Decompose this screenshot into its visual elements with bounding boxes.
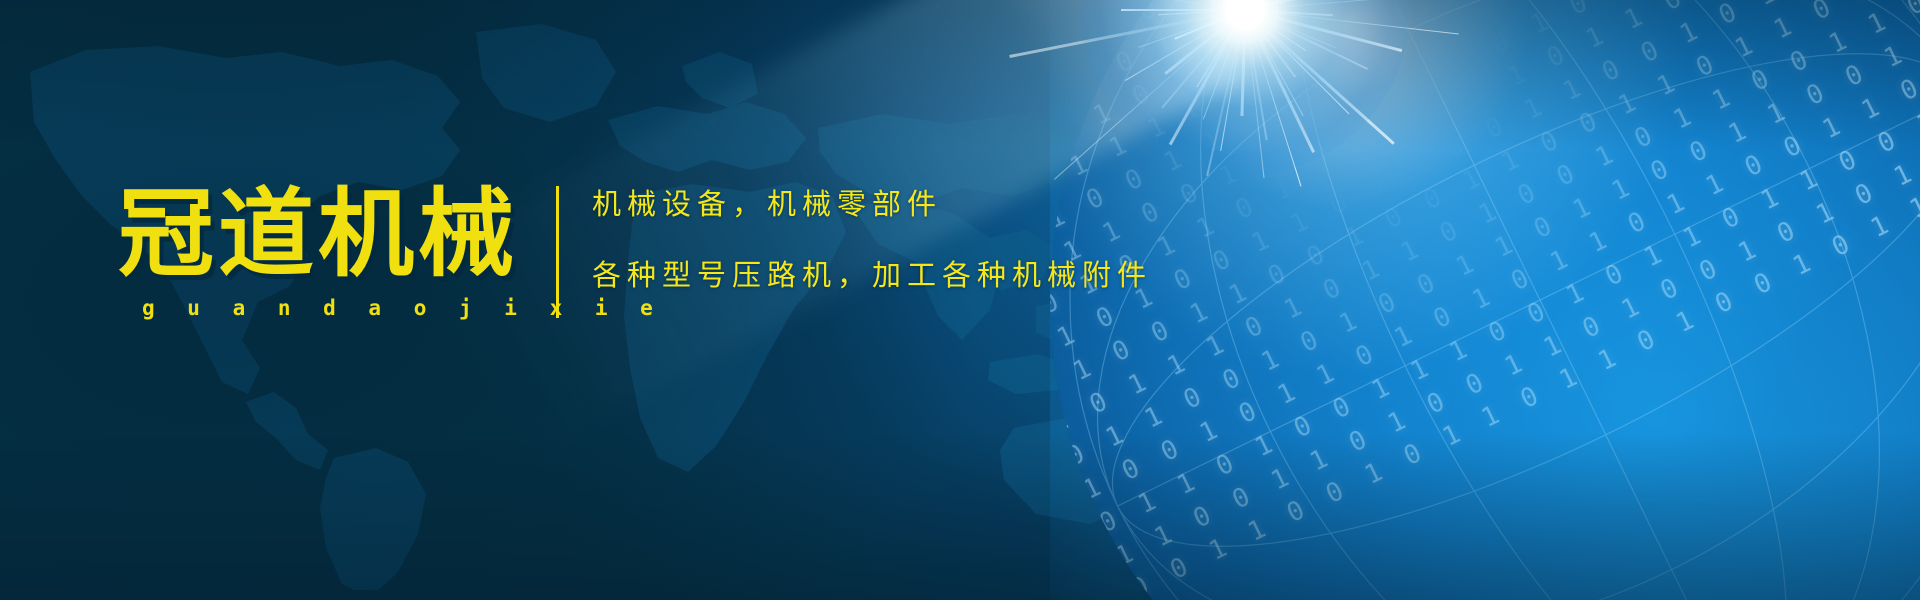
banner-content: 冠道机械 g u a n d a o j i x i e 机械设备，机械零部件 …: [0, 0, 1920, 600]
company-name-cn: 冠道机械: [118, 186, 538, 282]
hero-banner: 1 0 0 1 0 1 1 0 0 1 0 1 0 0 1 1 0 1 0 0 …: [0, 0, 1920, 600]
vertical-divider: [556, 186, 559, 318]
tagline-list: 机械设备，机械零部件 各种型号压路机，加工各种机械附件: [592, 190, 1372, 290]
tagline-primary: 机械设备，机械零部件: [592, 190, 1372, 219]
company-name-pinyin: g u a n d a o j i x i e: [118, 296, 538, 320]
tagline-secondary: 各种型号压路机，加工各种机械附件: [592, 261, 1372, 290]
logo-block: 冠道机械 g u a n d a o j i x i e: [118, 186, 538, 320]
